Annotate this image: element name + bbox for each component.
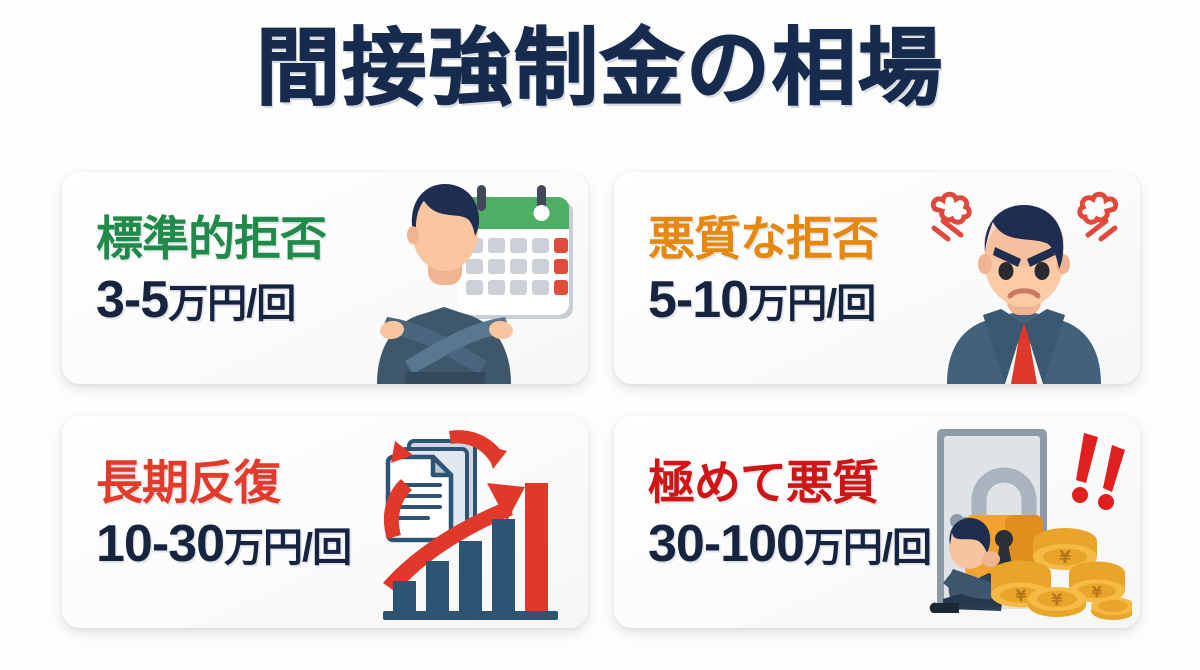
rate-card-malicious-refusal[interactable]: 悪質な拒否 5-10万円/回 — [614, 172, 1140, 384]
card-amount: 30-100万円/回 — [648, 517, 948, 572]
card-amount-unit: 万円/回 — [804, 526, 931, 570]
card-amount-unit: 万円/回 — [224, 526, 351, 570]
card-amount-unit: 万円/回 — [748, 282, 875, 326]
card-text-block: 標準的拒否 3-5万円/回 — [96, 214, 396, 327]
card-amount: 10-30万円/回 — [96, 517, 396, 572]
svg-text:¥: ¥ — [1015, 586, 1026, 605]
svg-text:¥: ¥ — [1051, 590, 1062, 609]
card-category-label: 悪質な拒否 — [648, 214, 948, 265]
svg-text:¥: ¥ — [1092, 583, 1103, 601]
card-category-label: 長期反復 — [96, 458, 396, 509]
page-header: 間接強制金の相場 — [0, 26, 1200, 110]
card-text-block: 極めて悪質 30-100万円/回 — [648, 458, 948, 571]
card-category-label: 標準的拒否 — [96, 214, 396, 265]
card-amount-number: 10-30 — [96, 515, 224, 573]
card-category-label: 極めて悪質 — [648, 458, 948, 509]
rate-card-standard-refusal[interactable]: 標準的拒否 3-5万円/回 — [62, 172, 588, 384]
card-amount-number: 3-5 — [96, 271, 168, 329]
angry-businessman-steam-icon — [917, 179, 1132, 384]
rate-card-long-term-repeat[interactable]: 長期反復 10-30万円/回 — [62, 416, 588, 628]
card-text-block: 長期反復 10-30万円/回 — [96, 458, 396, 571]
page-title: 間接強制金の相場 — [256, 26, 944, 110]
card-amount: 5-10万円/回 — [648, 273, 948, 328]
documents-cycle-rising-bar-chart-icon — [365, 423, 580, 628]
card-amount-number: 5-10 — [648, 271, 748, 329]
locked-door-despair-yen-coins-icon: ¥ ¥ ¥ — [917, 423, 1132, 628]
man-crossed-arms-calendar-icon — [365, 179, 580, 384]
rate-card-grid: 標準的拒否 3-5万円/回 — [62, 172, 1140, 632]
card-amount-number: 30-100 — [648, 515, 804, 573]
card-text-block: 悪質な拒否 5-10万円/回 — [648, 214, 948, 327]
rate-card-extremely-malicious[interactable]: 極めて悪質 30-100万円/回 — [614, 416, 1140, 628]
card-amount: 3-5万円/回 — [96, 273, 396, 328]
card-amount-unit: 万円/回 — [168, 282, 295, 326]
svg-text:¥: ¥ — [1059, 548, 1071, 568]
